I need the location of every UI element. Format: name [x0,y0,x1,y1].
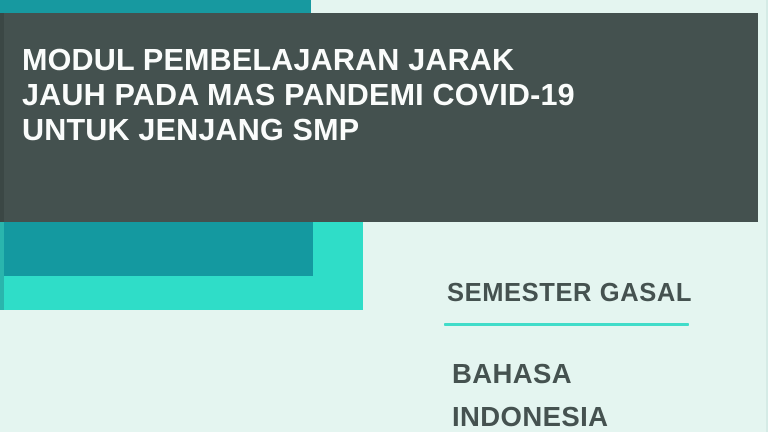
title-line-3: UNTUK JENJANG SMP [22,113,742,148]
subject-line-1: BAHASA [452,352,608,395]
semester-label: SEMESTER GASAL [447,279,692,308]
accent-block-left-shade [0,222,4,310]
title-line-2: JAUH PADA MAS PANDEMI COVID-19 [22,78,742,113]
semester-divider-rule [444,323,689,326]
title-panel-left-edge [0,13,4,222]
subject-line-2: INDONESIA [452,395,608,432]
presentation-slide: MODUL PEMBELAJARAN JARAK JAUH PADA MAS P… [0,0,768,432]
subject-title: BAHASA INDONESIA [452,352,608,432]
top-accent-gap [311,0,768,13]
accent-block-dark-teal [0,222,313,276]
top-accent-bar [0,0,311,13]
title-line-1: MODUL PEMBELAJARAN JARAK [22,43,742,78]
slide-title: MODUL PEMBELAJARAN JARAK JAUH PADA MAS P… [22,43,742,148]
